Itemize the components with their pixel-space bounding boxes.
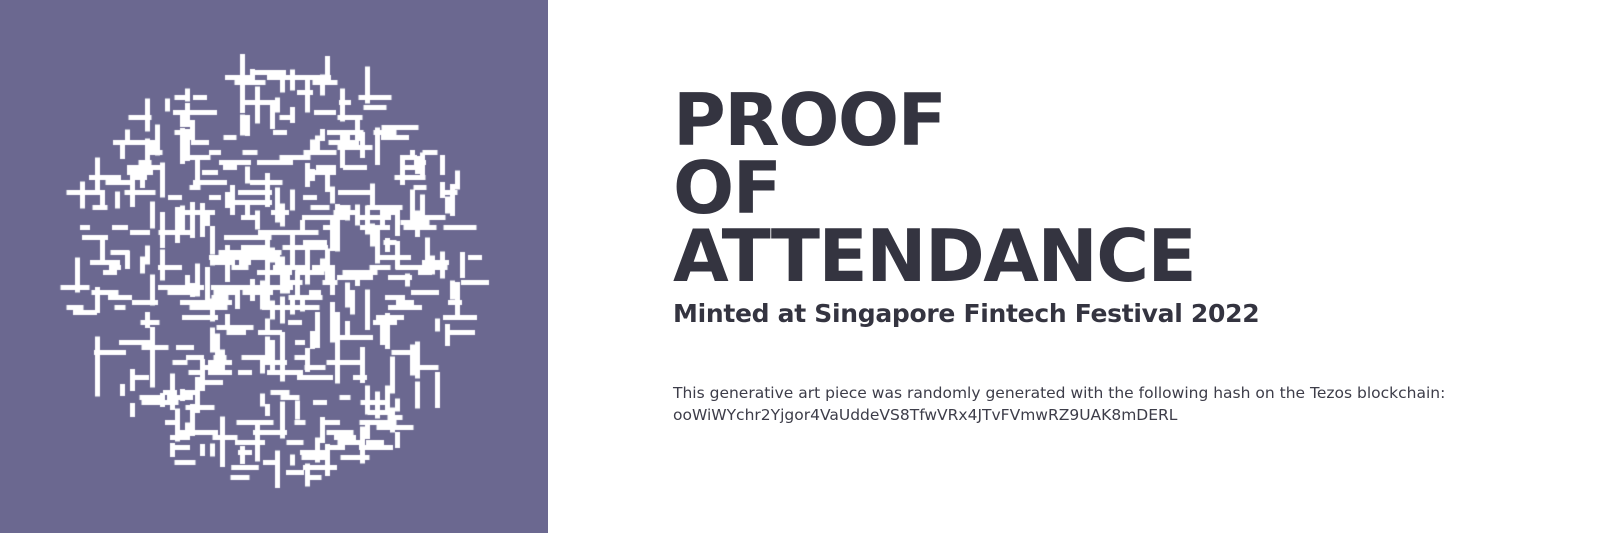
generative-art-canvas [0, 0, 548, 533]
title-line-2: OF [673, 154, 1573, 222]
description-block: This generative art piece was randomly g… [673, 382, 1503, 426]
proof-of-attendance-certificate: PROOF OF ATTENDANCE Minted at Singapore … [0, 0, 1600, 533]
artwork-panel [0, 0, 548, 533]
page-title: PROOF OF ATTENDANCE [673, 86, 1573, 290]
title-line-3: ATTENDANCE [673, 222, 1573, 290]
description-text: This generative art piece was randomly g… [673, 382, 1503, 404]
subtitle: Minted at Singapore Fintech Festival 202… [673, 298, 1259, 330]
title-line-1: PROOF [673, 86, 1573, 154]
content-panel: PROOF OF ATTENDANCE Minted at Singapore … [548, 0, 1600, 533]
hash-value: ooWiWYchr2Yjgor4VaUddeVS8TfwVRx4JTvFVmwR… [673, 404, 1503, 426]
